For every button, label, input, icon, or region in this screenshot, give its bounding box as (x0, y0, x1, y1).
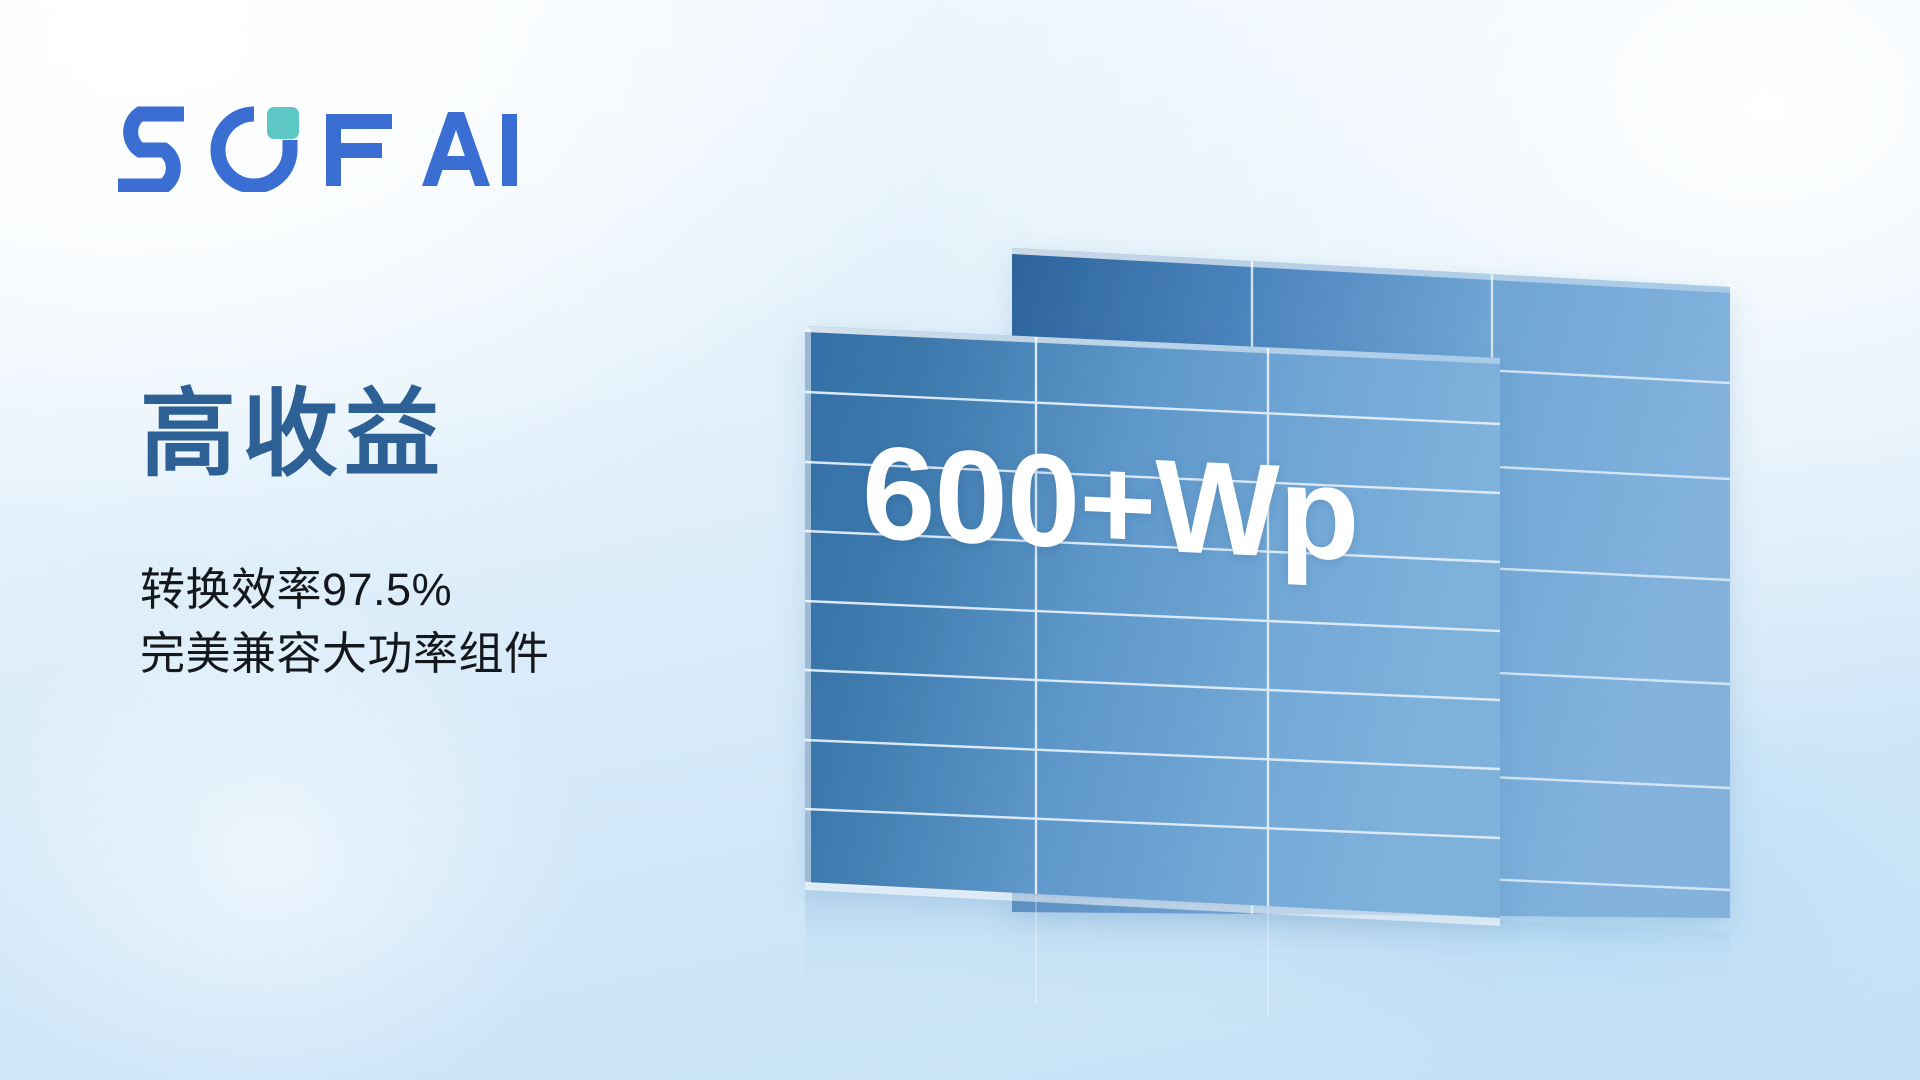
solar-panel-front (805, 326, 1500, 918)
panel-reflection (805, 882, 1730, 1040)
power-rating-badge: 600+Wp (862, 417, 1359, 591)
sofar-wordmark-icon (104, 100, 524, 192)
logo-accent-square (267, 107, 299, 139)
poster-canvas: 600+Wp (0, 0, 1920, 1080)
page-title: 高收益 (140, 385, 446, 486)
background-glow-right (1140, 580, 1920, 1080)
subtitle-line-1: 转换效率97.5% (140, 558, 550, 622)
subtitle-line-2: 完美兼容大功率组件 (140, 622, 550, 686)
solar-panel-back (1012, 248, 1730, 918)
subtitle-block: 转换效率97.5% 完美兼容大功率组件 (140, 558, 550, 686)
sofar-logo[interactable] (104, 100, 524, 192)
